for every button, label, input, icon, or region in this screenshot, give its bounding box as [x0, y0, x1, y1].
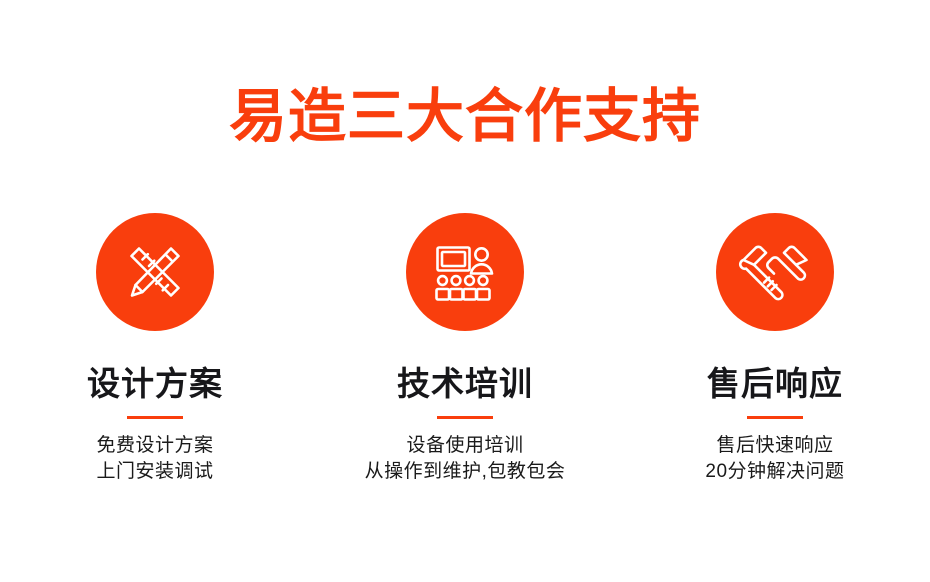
- column-description: 售后快速响应 20分钟解决问题: [705, 433, 844, 485]
- feature-column-training: 技术培训 设备使用培训 从操作到维护,包教包会: [310, 213, 620, 485]
- feature-columns: 设计方案 免费设计方案 上门安装调试: [0, 213, 930, 485]
- icon-circle-design: [96, 213, 214, 331]
- promo-banner: 易造三大合作支持: [0, 0, 930, 582]
- feature-column-design: 设计方案 免费设计方案 上门安装调试: [0, 213, 310, 485]
- description-line: 免费设计方案: [96, 433, 213, 459]
- pencil-ruler-icon: [118, 235, 192, 309]
- training-presentation-icon: [428, 235, 502, 309]
- heading-divider: [437, 416, 493, 419]
- description-line: 20分钟解决问题: [705, 459, 844, 485]
- heading-divider: [127, 416, 183, 419]
- column-description: 设备使用培训 从操作到维护,包教包会: [365, 433, 566, 485]
- heading-divider: [747, 416, 803, 419]
- column-heading: 设计方案: [87, 366, 223, 402]
- column-heading: 售后响应: [707, 366, 843, 402]
- description-line: 售后快速响应: [705, 433, 844, 459]
- description-line: 从操作到维护,包教包会: [365, 459, 566, 485]
- description-line: 设备使用培训: [365, 433, 566, 459]
- icon-circle-after-sales: [716, 213, 834, 331]
- handshake-icon: [737, 234, 813, 310]
- feature-column-after-sales: 售后响应 售后快速响应 20分钟解决问题: [620, 213, 930, 485]
- icon-circle-training: [406, 213, 524, 331]
- column-heading: 技术培训: [397, 366, 533, 402]
- column-description: 免费设计方案 上门安装调试: [96, 433, 213, 485]
- page-title: 易造三大合作支持: [0, 84, 930, 150]
- description-line: 上门安装调试: [96, 459, 213, 485]
